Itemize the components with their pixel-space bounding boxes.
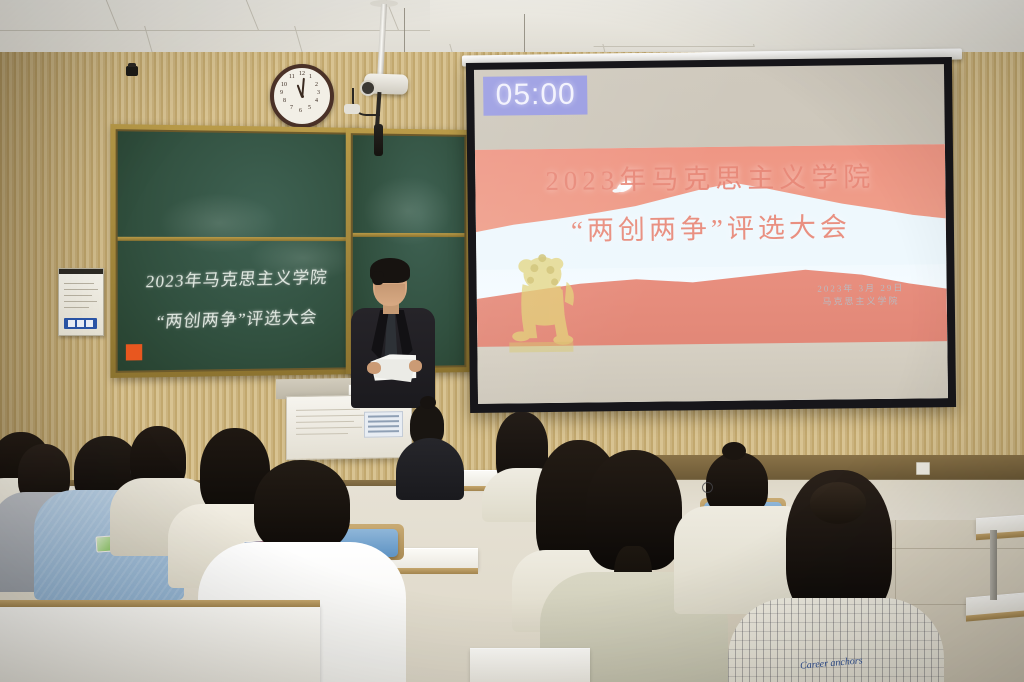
clock-numeral: 3 xyxy=(317,90,320,96)
hanging-microphone-icon xyxy=(374,124,383,156)
clock-numeral: 7 xyxy=(290,105,293,111)
wall-notice-poster xyxy=(58,268,104,336)
clock-center-pin xyxy=(301,95,304,98)
slide-title-line-1: 2023年马克思主义学院 xyxy=(475,154,945,199)
notice-qr-row xyxy=(64,318,97,329)
countdown-timer[interactable]: 05:00 xyxy=(483,75,588,116)
clock-numeral: 12 xyxy=(299,71,305,77)
ceiling-speaker xyxy=(344,104,360,114)
clock-numeral: 9 xyxy=(280,90,283,96)
clock-numeral: 2 xyxy=(315,82,318,88)
projection-screen[interactable]: 05:00 2023年马克思主义学院 “两创两争”评选大会 2023年 3月 2… xyxy=(466,57,956,413)
clock-numeral: 11 xyxy=(289,74,295,80)
slide-org-text: 马克思主义学院 xyxy=(817,295,904,310)
presentation-slide: 05:00 2023年马克思主义学院 “两创两争”评选大会 2023年 3月 2… xyxy=(474,64,948,404)
desk-foreground-center xyxy=(470,648,590,682)
blackboard-ledge xyxy=(118,237,355,241)
wall-clock: 12 1 2 3 4 5 6 7 8 9 10 11 xyxy=(270,64,334,128)
blackboard-line-1: 2023年马克思主义学院 xyxy=(116,262,356,293)
blackboard-sticker xyxy=(126,344,142,360)
ceiling-right-section xyxy=(430,0,1024,44)
ceiling-wire-2 xyxy=(524,14,525,52)
presenter xyxy=(341,258,445,408)
slide-title-line-2: “两创两争”评选大会 xyxy=(476,204,946,249)
ceiling-wire xyxy=(404,8,405,54)
clock-numeral: 5 xyxy=(308,105,311,111)
clock-minute-hand xyxy=(301,78,304,97)
desk-foreground xyxy=(0,604,320,682)
clock-numeral: 6 xyxy=(299,108,302,114)
clock-numeral: 8 xyxy=(283,98,286,104)
clock-numeral: 1 xyxy=(309,74,312,80)
blackboard-line-2: “两创两争”评选大会 xyxy=(116,302,356,334)
slide-date-text: 2023年 3月 29日 xyxy=(817,281,904,296)
desk-leg xyxy=(990,530,997,600)
student-back-1 xyxy=(396,404,468,496)
clock-numeral: 10 xyxy=(281,82,287,88)
classroom-photo: 12 1 2 3 4 5 6 7 8 9 10 11 2023年马克思主义学院 … xyxy=(0,0,1024,682)
clock-numeral: 4 xyxy=(315,98,318,104)
student-right-tweed: Career anchors xyxy=(736,470,932,682)
blackboard-left: 2023年马克思主义学院 “两创两争”评选大会 xyxy=(110,124,361,378)
slide-footer: 2023年 3月 29日 马克思主义学院 xyxy=(817,281,904,309)
notice-header-bar xyxy=(59,269,103,274)
ceiling-sensor-icon xyxy=(126,66,138,76)
guardian-lion-icon xyxy=(500,244,581,357)
